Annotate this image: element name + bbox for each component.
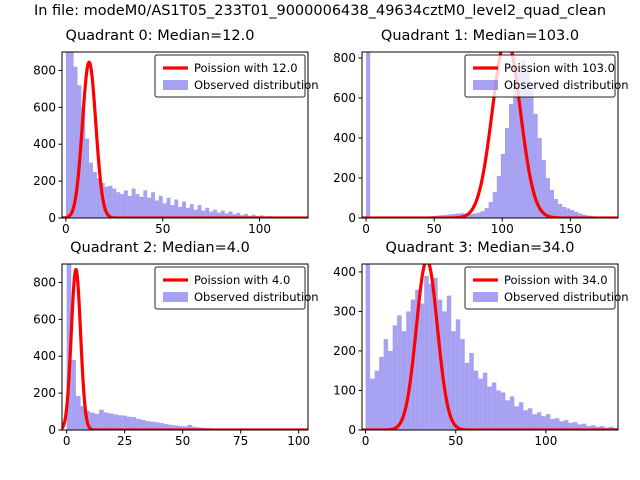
y-tick-label: 400 [33, 137, 56, 151]
subplot-quadrant-3: Quadrant 3: Median=34.005010001002003004… [320, 240, 640, 452]
x-tick-label: 150 [559, 222, 582, 236]
x-tick-label: 100 [248, 222, 271, 236]
subplot-quadrant-1: Quadrant 1: Median=103.00501001500200400… [320, 28, 640, 240]
subplot-quadrant-2: Quadrant 2: Median=4.0025507510002004006… [0, 240, 320, 452]
figure-suptitle: In file: modeM0/AS1T05_233T01_9000006438… [0, 3, 640, 19]
y-tick-label: 400 [333, 131, 356, 145]
legend-label-poisson: Poission with 12.0 [194, 61, 298, 75]
legend-label-poisson: Poission with 4.0 [194, 273, 290, 287]
x-tick-label: 75 [233, 434, 248, 448]
plot-area-quadrant-3: 0501000100200300400Poission with 34.0Obs… [320, 240, 640, 452]
x-tick-label: 50 [175, 434, 190, 448]
legend: Poission with 4.0Observed distribution [155, 267, 319, 309]
y-tick-label: 200 [333, 171, 356, 185]
plot-area-quadrant-0: 0501000200400600800Poission with 12.0Obs… [0, 28, 320, 240]
legend: Poission with 103.0Observed distribution [465, 55, 629, 97]
legend-label-observed: Observed distribution [194, 78, 319, 92]
y-tick-label: 0 [348, 423, 356, 437]
y-tick-label: 600 [33, 100, 56, 114]
subplot-title: Quadrant 3: Median=34.0 [320, 240, 640, 256]
y-tick-label: 400 [333, 265, 356, 279]
x-tick-label: 100 [534, 434, 557, 448]
y-tick-label: 600 [33, 312, 56, 326]
plot-area-quadrant-1: 0501001500200400600800Poission with 103.… [320, 28, 640, 240]
x-tick-label: 0 [362, 434, 370, 448]
x-tick-label: 0 [362, 222, 370, 236]
y-tick-label: 400 [33, 349, 56, 363]
y-tick-label: 200 [33, 386, 56, 400]
legend-label-observed: Observed distribution [504, 78, 629, 92]
x-tick-label: 0 [63, 434, 71, 448]
x-tick-label: 50 [427, 222, 442, 236]
x-tick-label: 100 [287, 434, 310, 448]
y-tick-label: 800 [333, 51, 356, 65]
y-tick-label: 200 [33, 174, 56, 188]
plot-area-quadrant-2: 02550751000200400600800Poission with 4.0… [0, 240, 320, 452]
legend: Poission with 34.0Observed distribution [465, 267, 629, 309]
subplot-title: Quadrant 0: Median=12.0 [0, 28, 320, 44]
y-tick-label: 600 [333, 91, 356, 105]
legend-label-poisson: Poission with 103.0 [504, 61, 615, 75]
legend-label-poisson: Poission with 34.0 [504, 273, 608, 287]
y-tick-label: 200 [333, 344, 356, 358]
subplot-quadrant-0: Quadrant 0: Median=12.005010002004006008… [0, 28, 320, 240]
x-tick-label: 25 [117, 434, 132, 448]
x-tick-label: 0 [62, 222, 70, 236]
legend: Poission with 12.0Observed distribution [155, 55, 319, 97]
legend-label-observed: Observed distribution [504, 290, 629, 304]
y-tick-label: 800 [33, 63, 56, 77]
x-tick-label: 100 [491, 222, 514, 236]
legend-label-observed: Observed distribution [194, 290, 319, 304]
x-tick-label: 50 [448, 434, 463, 448]
y-tick-label: 300 [333, 304, 356, 318]
subplot-title: Quadrant 1: Median=103.0 [320, 28, 640, 44]
y-tick-label: 100 [333, 383, 356, 397]
y-tick-label: 0 [48, 423, 56, 437]
y-tick-label: 0 [348, 211, 356, 225]
x-tick-label: 50 [155, 222, 170, 236]
y-tick-label: 800 [33, 275, 56, 289]
subplot-title: Quadrant 2: Median=4.0 [0, 240, 320, 256]
y-tick-label: 0 [48, 211, 56, 225]
figure-canvas: In file: modeM0/AS1T05_233T01_9000006438… [0, 0, 640, 480]
